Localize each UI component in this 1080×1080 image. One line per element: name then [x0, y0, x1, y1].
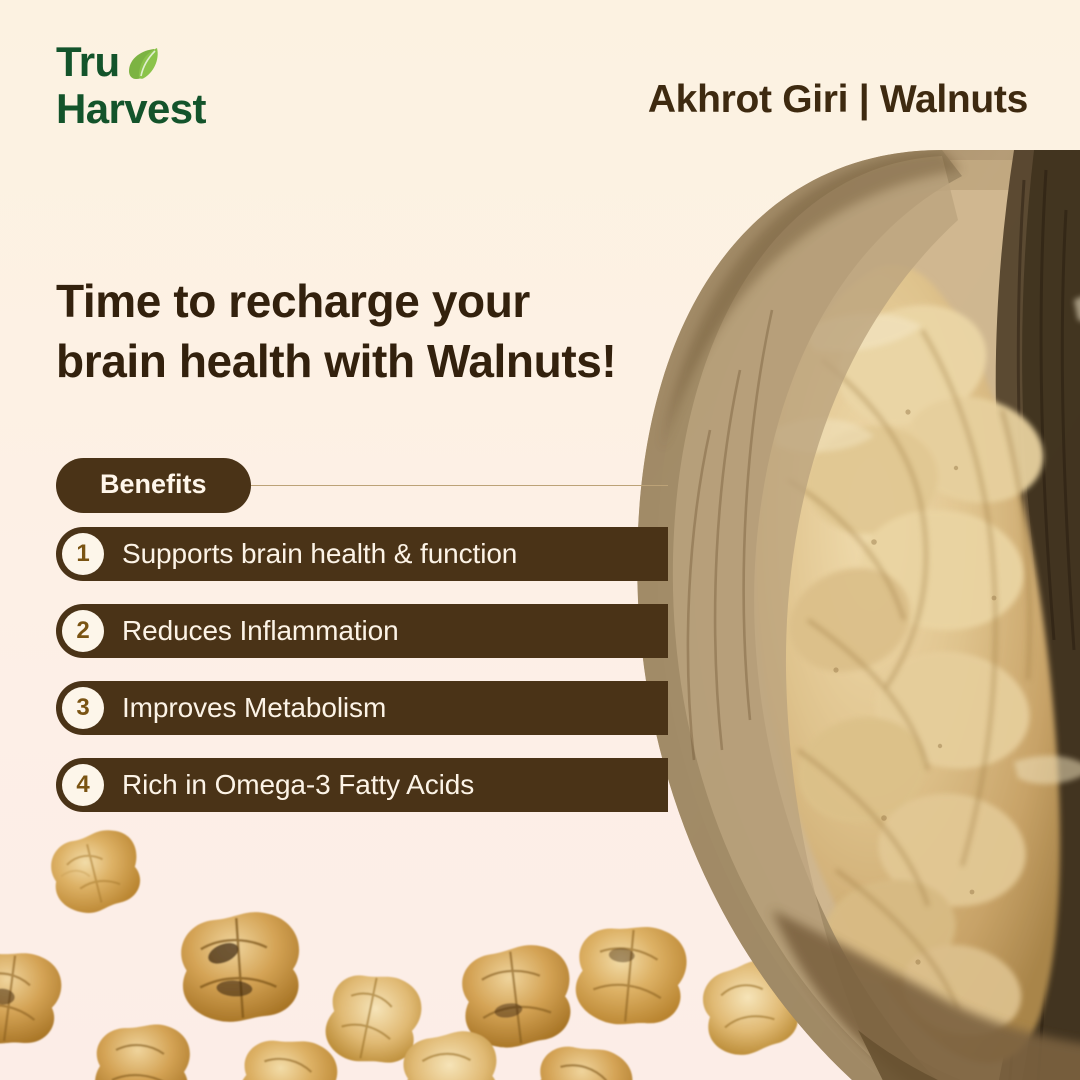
brand-logo[interactable]: Tru Harvest [56, 42, 206, 129]
poster-canvas: Tru Harvest Akhrot Giri | Walnuts Time t… [0, 0, 1080, 1080]
benefit-label-4: Rich in Omega-3 Fatty Acids [122, 769, 474, 801]
benefit-number-4: 4 [62, 764, 104, 806]
benefit-label-3: Improves Metabolism [122, 692, 386, 724]
benefit-item-2[interactable]: 2 Reduces Inflammation [56, 604, 668, 658]
headline-line-1: Time to recharge your [56, 272, 696, 332]
benefits-header-row: Benefits [56, 458, 668, 513]
benefit-number-1: 1 [62, 533, 104, 575]
benefit-number-2: 2 [62, 610, 104, 652]
scattered-walnut-kernels-photo [0, 826, 820, 1080]
benefit-item-1[interactable]: 1 Supports brain health & function [56, 527, 668, 581]
product-title: Akhrot Giri | Walnuts [648, 78, 1028, 122]
benefit-item-3[interactable]: 3 Improves Metabolism [56, 681, 668, 735]
benefit-label-1: Supports brain health & function [122, 538, 517, 570]
benefit-item-4[interactable]: 4 Rich in Omega-3 Fatty Acids [56, 758, 668, 812]
headline-line-2: brain health with Walnuts! [56, 332, 696, 392]
benefit-label-2: Reduces Inflammation [122, 615, 399, 647]
brand-name-line1: Tru [56, 42, 120, 81]
benefits-badge: Benefits [56, 458, 251, 513]
benefits-divider-line [251, 485, 668, 486]
brand-name-line2: Harvest [56, 89, 206, 128]
leaf-icon [124, 44, 164, 87]
headline: Time to recharge your brain health with … [56, 272, 696, 392]
benefits-list: 1 Supports brain health & function 2 Red… [56, 527, 668, 835]
benefit-number-3: 3 [62, 687, 104, 729]
